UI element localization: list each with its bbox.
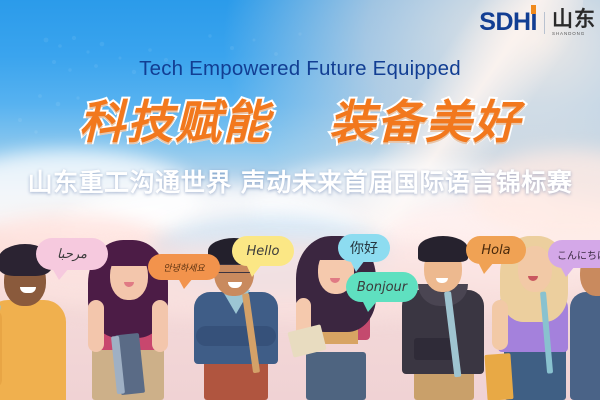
person-5-pocket xyxy=(414,338,454,360)
logo-wordmark-text: SDHI xyxy=(479,8,537,36)
logo-chinese-name: 山东 xyxy=(552,9,596,30)
speech-bubble-japanese-text: こんにちは xyxy=(557,247,600,262)
logo-accent-dot xyxy=(531,5,536,14)
person-2-bangs xyxy=(104,242,154,266)
speech-tail-japanese xyxy=(560,266,575,277)
headline-chinese-right: 装备美好 xyxy=(329,95,521,149)
person-1-torso xyxy=(0,300,66,400)
speech-bubble-spanish[interactable]: Hola xyxy=(466,236,526,264)
speech-tail-english xyxy=(246,264,262,277)
person-6-folder xyxy=(484,353,513,400)
subtitle-chinese: 山东重工沟通世界 声动未来首届国际语言锦标赛 xyxy=(0,163,600,199)
person-6-arm xyxy=(492,300,508,350)
logo-chinese-pinyin: SHANDONG xyxy=(552,32,596,37)
person-3-arms-crossed xyxy=(196,326,276,346)
person-2-arm-right xyxy=(152,300,168,352)
event-poster: SDHI 山东 SHANDONG Tech Empowered Future E… xyxy=(0,0,600,400)
speech-bubble-chinese[interactable]: 你好 xyxy=(338,234,390,262)
person-7-torso xyxy=(570,292,600,400)
person-6-skirt xyxy=(504,348,566,400)
person-5-hair xyxy=(418,236,468,262)
headline-english: Tech Empowered Future Equipped xyxy=(0,57,600,81)
speech-bubble-french[interactable]: Bonjour xyxy=(346,272,418,302)
speech-bubble-chinese-text: 你好 xyxy=(350,238,378,258)
person-1-arm xyxy=(0,310,2,388)
speech-tail-chinese xyxy=(350,260,365,272)
headline-chinese: 科技赋能 装备美好 xyxy=(0,86,600,152)
logo-wordmark: SDHI xyxy=(479,10,537,35)
headline-chinese-left: 科技赋能 xyxy=(79,95,271,149)
speech-bubble-japanese[interactable]: こんにちは xyxy=(548,240,600,268)
speech-bubble-english-text: Hello xyxy=(247,244,280,259)
speech-tail-spanish xyxy=(478,262,494,274)
speech-tail-french xyxy=(362,300,378,312)
logo-chinese-block: 山东 SHANDONG xyxy=(552,9,596,37)
person-4-jeans xyxy=(306,352,366,400)
speech-tail-korean xyxy=(178,278,193,289)
speech-tail-arabic xyxy=(52,268,69,280)
speech-bubble-arabic[interactable]: مرحبا xyxy=(36,238,108,270)
person-2-arm-left xyxy=(88,300,104,352)
speech-bubble-korean[interactable]: 안녕하세요 xyxy=(148,254,220,280)
sdhi-logo[interactable]: SDHI 山东 SHANDONG xyxy=(479,9,596,37)
speech-bubble-arabic-text: مرحبا xyxy=(57,247,87,262)
speech-bubble-english[interactable]: Hello xyxy=(232,236,294,266)
speech-bubble-french-text: Bonjour xyxy=(357,280,407,295)
speech-bubble-korean-text: 안녕하세요 xyxy=(163,261,204,274)
logo-divider xyxy=(544,12,545,34)
people-illustration: مرحبا 안녕하세요 Hello 你好 Bonjour Hola こんにちは xyxy=(0,230,600,400)
speech-bubble-spanish-text: Hola xyxy=(481,243,510,258)
